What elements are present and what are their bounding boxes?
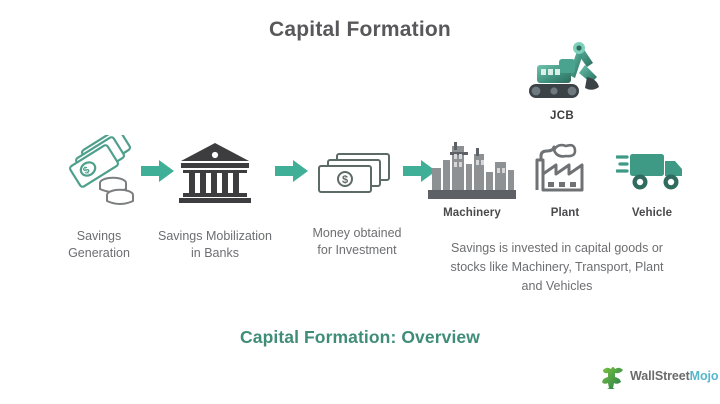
jcb-label: JCB <box>512 110 612 122</box>
goods-icon-vehicle <box>612 140 692 200</box>
step-label-line-1: Money obtained <box>296 225 418 242</box>
industrial-site-icon <box>426 138 518 202</box>
step-label-money-for-investment: Money obtained for Investment <box>296 225 418 259</box>
capital-goods-caption: Savings is invested in capital goods or … <box>412 239 702 295</box>
caption-line-3: and Vehicles <box>412 277 702 296</box>
excavator-icon-wrap <box>512 35 612 110</box>
goods-label-machinery: Machinery <box>424 207 520 219</box>
step-icon-money-for-investment: $ <box>300 136 410 216</box>
logo-text-primary: WallStreet <box>630 369 690 383</box>
step-label-savings-mobilization: Savings Mobilization in Banks <box>145 228 285 262</box>
factory-icon <box>532 140 598 200</box>
svg-text:$: $ <box>342 174 348 186</box>
logo-text: WallStreetMojo <box>630 369 718 383</box>
step-icon-savings-mobilization <box>160 132 270 212</box>
caption-line-2: stocks like Machinery, Transport, Plant <box>412 258 702 277</box>
page-subtitle: Capital Formation: Overview <box>0 327 720 348</box>
excavator-icon <box>519 37 605 109</box>
page-title: Capital Formation <box>0 18 720 42</box>
caption-line-1: Savings is invested in capital goods or <box>412 239 702 258</box>
step-label-line-1: Savings <box>44 228 154 245</box>
step-label-line-2: Generation <box>44 245 154 262</box>
bank-building-icon <box>177 137 253 207</box>
step-label-savings-generation: Savings Generation <box>44 228 154 262</box>
cash-stack-icon: $ <box>307 148 403 204</box>
money-notes-coins-icon: $ <box>58 135 140 209</box>
wallstreetmojo-logo[interactable]: WallStreetMojo <box>601 363 718 389</box>
logo-text-accent: Mojo <box>690 369 719 383</box>
step-label-line-2: for Investment <box>296 242 418 259</box>
goods-icon-machinery <box>424 136 520 204</box>
infographic-canvas: Capital Formation <box>0 0 720 404</box>
goods-icon-plant <box>529 136 601 204</box>
step-label-line-2: in Banks <box>145 245 285 262</box>
goods-label-vehicle: Vehicle <box>612 207 692 219</box>
step-label-line-1: Savings Mobilization <box>145 228 285 245</box>
wallstreetmojo-bull-icon <box>601 363 625 389</box>
goods-label-plant: Plant <box>529 207 601 219</box>
delivery-truck-icon <box>616 144 688 196</box>
